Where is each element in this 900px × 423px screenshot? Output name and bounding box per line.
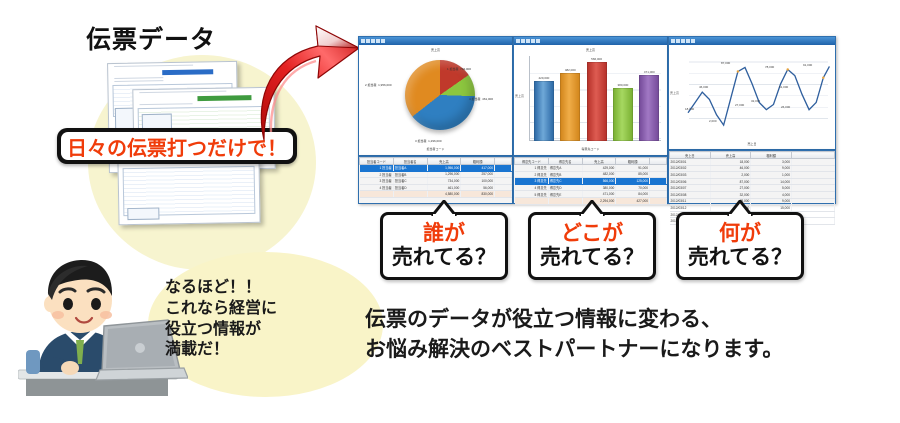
cell: 2012/03/01 xyxy=(670,159,711,166)
callout-line2: 売れてる？ xyxy=(688,246,792,270)
slip-document-front xyxy=(117,159,260,225)
cell xyxy=(792,159,835,166)
point-label-2: 2,000 xyxy=(709,119,717,123)
th-0[interactable]: 担当者コード xyxy=(360,158,394,165)
table-customer: 得意先コード 得意先名 売上高 粗利額 1 得意先 得意先A 429,000 9… xyxy=(514,157,667,205)
cell: 380,000 xyxy=(582,184,616,191)
point-label-1: 46,000 xyxy=(699,85,708,89)
bar-value-0: 429,000 xyxy=(538,76,549,80)
callout-line2: 売れてる？ xyxy=(540,246,644,270)
th-1[interactable]: 得意先名 xyxy=(548,158,582,165)
cell: 担当者A xyxy=(393,165,427,172)
bottom-copy: 伝票のデータが役立つ情報に変わる、 お悩み解決のベストパートナーになります。 xyxy=(365,305,885,365)
cell xyxy=(495,191,512,198)
cell: 2 得意先 xyxy=(515,171,549,178)
table-row[interactable]: 1 得意先 得意先A 429,000 91,000 xyxy=(515,165,667,172)
th-2[interactable]: 売上高 xyxy=(427,158,461,165)
cell xyxy=(650,197,667,204)
cell xyxy=(515,197,549,204)
callout-line1: どこが xyxy=(561,222,623,246)
table-row[interactable]: 2012/03/0118,0003,000 xyxy=(670,159,835,166)
cell: 417,000 xyxy=(461,165,495,172)
cell: 27,000 xyxy=(710,185,751,192)
table-row[interactable]: 2012/03/032,0001,000 xyxy=(670,172,835,179)
cell xyxy=(792,178,835,185)
table-row[interactable]: 3 担当者 担当者C 734,000 100,000 xyxy=(360,178,512,185)
table-row[interactable]: 3 得意先 得意先C 566,000 125,000 xyxy=(515,178,667,185)
cell: 2012/03/02 xyxy=(670,165,711,172)
callout-tail xyxy=(579,200,605,216)
cell xyxy=(792,172,835,179)
dashboard-panel-daily[interactable]: 売上高 18,000 46,000 2,000 87,000 27,000 32… xyxy=(668,36,836,150)
cell xyxy=(495,184,512,191)
cell: 482,000 xyxy=(582,171,616,178)
cell: 2012/03/03 xyxy=(670,172,711,179)
cell: 566,000 xyxy=(582,178,616,185)
cell xyxy=(650,171,667,178)
table-row[interactable]: 4 得意先 得意先D 380,000 70,000 xyxy=(515,184,667,191)
chart-title-2: 売上高 xyxy=(514,48,667,52)
cell: 2012/03/12 xyxy=(670,205,711,212)
cell: 100,000 xyxy=(461,178,495,185)
cell: 85,000 xyxy=(616,171,650,178)
cell: 830,000 xyxy=(461,191,495,198)
cell: 91,000 xyxy=(616,165,650,172)
table-row[interactable]: 4 担当者 担当者D 461,000 56,000 xyxy=(360,184,512,191)
cell: 32,000 xyxy=(710,191,751,198)
bar-value-2: 566,000 xyxy=(591,57,602,61)
point-label-5: 32,000 xyxy=(751,99,760,103)
dashboard-panel-salesperson[interactable]: 売上高 1 担当者, 734,000 2 担当者, 1,956,000 3 担当… xyxy=(358,36,513,156)
pie-label-3: 3 担当者, 1,296,000 xyxy=(415,139,442,143)
cell: 471,000 xyxy=(582,191,616,198)
callout-tail xyxy=(727,200,753,216)
cell: 46,000 xyxy=(710,165,751,172)
cell: 1,296,000 xyxy=(427,171,461,178)
cell: 14,000 xyxy=(751,178,792,185)
cell: 427,000 xyxy=(616,197,650,204)
cell xyxy=(792,185,835,192)
tagline-banner-text: 日々の伝票打つだけで！ xyxy=(67,132,287,161)
point-label-9: 91,000 xyxy=(803,63,812,67)
bar-value-3: 380,000 xyxy=(618,83,629,87)
cell xyxy=(495,178,512,185)
cell: 4 得意先 xyxy=(515,184,549,191)
businessman-illustration xyxy=(18,252,188,400)
cell: 3,000 xyxy=(751,159,792,166)
pie-label-4: 4 担当者, 461,000 xyxy=(469,97,493,101)
bar-3: 380,000 xyxy=(613,88,633,141)
chart-xlabel-3: 売上日 xyxy=(669,142,835,146)
table-header-row: 売上日 売上高 粗利額 xyxy=(670,152,835,159)
cell xyxy=(393,191,427,198)
panel-titlebar[interactable] xyxy=(669,37,835,45)
th-3[interactable]: 粗利額 xyxy=(616,158,650,165)
cell: 2012/03/11 xyxy=(670,198,711,205)
point-label-6: 78,000 xyxy=(765,65,774,69)
table-header-row: 担当者コード 担当者名 売上高 粗利額 xyxy=(360,158,512,165)
table-row[interactable]: 2012/03/0727,0005,000 xyxy=(670,185,835,192)
dashboard-panel-customer[interactable]: 売上高 売上高 429,000 482,000 566,000 380,000 … xyxy=(513,36,668,156)
table-salesperson: 担当者コード 担当者名 売上高 粗利額 1 担当者 担当者A 1,956,000… xyxy=(359,157,512,198)
panel-titlebar[interactable] xyxy=(359,37,512,45)
cell: 担当者B xyxy=(393,171,427,178)
cell: 461,000 xyxy=(427,184,461,191)
dashboard-table-customer[interactable]: 得意先コード 得意先名 売上高 粗利額 1 得意先 得意先A 429,000 9… xyxy=(513,156,668,204)
cell: 2 担当者 xyxy=(360,171,394,178)
th-0[interactable]: 得意先コード xyxy=(515,158,549,165)
bar-value-1: 482,000 xyxy=(565,68,576,72)
cell: 4,580,000 xyxy=(427,191,461,198)
cell: 70,000 xyxy=(616,184,650,191)
point-label-0: 18,000 xyxy=(685,107,694,111)
cell: 1,956,000 xyxy=(427,165,461,172)
th-2[interactable]: 粗利額 xyxy=(751,152,792,159)
man-speech-line-4: 満載だ！ xyxy=(165,340,325,361)
bar-value-4: 471,000 xyxy=(644,70,655,74)
cell: 1 担当者 xyxy=(360,165,394,172)
cell: 87,000 xyxy=(710,178,751,185)
th-2[interactable]: 売上高 xyxy=(582,158,616,165)
chart-xlabel-2: 得意先コード xyxy=(514,147,667,151)
cell: 429,000 xyxy=(582,165,616,172)
callout-what: 何が 売れてる？ xyxy=(676,212,804,280)
table-row[interactable]: 2012/03/0687,00014,000 xyxy=(670,178,835,185)
cell: 9,000 xyxy=(751,198,792,205)
table-row[interactable]: 2012/03/0246,0009,000 xyxy=(670,165,835,172)
cell xyxy=(650,191,667,198)
red-arrow-icon xyxy=(258,22,373,142)
point-label-7: 51,000 xyxy=(779,85,788,89)
bottom-copy-line-1: 伝票のデータが役立つ情報に変わる、 xyxy=(365,305,885,335)
bottom-copy-line-2: お悩み解決のベストパートナーになります。 xyxy=(365,335,885,365)
cell xyxy=(548,197,582,204)
cell: 担当者D xyxy=(393,184,427,191)
cell xyxy=(792,198,835,205)
cell xyxy=(495,165,512,172)
th-1[interactable]: 売上高 xyxy=(710,152,751,159)
table-row[interactable]: 2 担当者 担当者B 1,296,000 257,000 xyxy=(360,171,512,178)
page-title: 伝票データ xyxy=(86,20,286,56)
cell: 得意先A xyxy=(548,165,582,172)
cell: 56,000 xyxy=(461,184,495,191)
cell: 2012/03/08 xyxy=(670,191,711,198)
man-speech-line-3: 役立つ情報が xyxy=(165,320,325,341)
table-row[interactable]: 2012/03/0832,0004,000 xyxy=(670,191,835,198)
table-row[interactable]: 1 担当者 担当者A 1,956,000 417,000 xyxy=(360,165,512,172)
cell: 15,000 xyxy=(751,205,792,212)
th-0[interactable]: 売上日 xyxy=(670,152,711,159)
table-row[interactable]: 2 得意先 得意先B 482,000 85,000 xyxy=(515,171,667,178)
cell: 2012/03/06 xyxy=(670,178,711,185)
bar-4: 471,000 xyxy=(639,75,659,141)
bar-chart: 429,000 482,000 566,000 380,000 471,000 xyxy=(534,58,659,141)
point-label-4: 27,000 xyxy=(735,103,744,107)
cell xyxy=(650,178,667,185)
cell: 5 得意先 xyxy=(515,191,549,198)
callout-line2: 売れてる？ xyxy=(392,246,496,270)
bar-1: 482,000 xyxy=(560,73,580,140)
bar-2: 566,000 xyxy=(587,62,607,141)
th-spacer xyxy=(495,158,512,165)
callout-who: 誰が 売れてる？ xyxy=(380,212,508,280)
pie-label-2: 2 担当者, 1,956,000 xyxy=(365,83,392,87)
chart-ylabel-2: 売上高 xyxy=(515,94,524,98)
point-label-8: 26,000 xyxy=(781,105,790,109)
th-3[interactable]: 粗利額 xyxy=(461,158,495,165)
cell: 3 担当者 xyxy=(360,178,394,185)
cell: 担当者C xyxy=(393,178,427,185)
th-1[interactable]: 担当者名 xyxy=(393,158,427,165)
man-speech-text: なるほど！！ これなら経営に 役立つ情報が 満載だ！ xyxy=(165,278,325,361)
th-spacer xyxy=(792,152,835,159)
cell: 得意先B xyxy=(548,171,582,178)
man-speech-line-2: これなら経営に xyxy=(165,299,325,320)
cell xyxy=(650,184,667,191)
cell: 2,000 xyxy=(710,172,751,179)
cell: 125,000 xyxy=(616,178,650,185)
cell: 734,000 xyxy=(427,178,461,185)
cell: 4,000 xyxy=(751,191,792,198)
bar-0: 429,000 xyxy=(534,81,554,141)
table-total-row: 4,580,000 830,000 xyxy=(360,191,512,198)
cell xyxy=(792,205,835,212)
chart-ylabel-3: 売上高 xyxy=(670,91,679,95)
cell: 3 得意先 xyxy=(515,178,549,185)
cell: 5,000 xyxy=(751,185,792,192)
cell xyxy=(792,165,835,172)
th-spacer xyxy=(650,158,667,165)
cell: 得意先D xyxy=(548,184,582,191)
man-speech-line-1: なるほど！！ xyxy=(165,278,325,299)
chart-xlabel-1: 担当者コード xyxy=(359,147,512,151)
chart-title-1: 売上高 xyxy=(359,48,512,52)
cell: 1 得意先 xyxy=(515,165,549,172)
cell: 1,000 xyxy=(751,172,792,179)
panel-titlebar[interactable] xyxy=(514,37,667,45)
cell: 84,000 xyxy=(616,191,650,198)
cell: 18,000 xyxy=(710,159,751,166)
cell: 4 担当者 xyxy=(360,184,394,191)
cell xyxy=(360,191,394,198)
pie-label-1: 1 担当者, 734,000 xyxy=(447,67,471,71)
callout-tail xyxy=(431,200,457,216)
cell xyxy=(792,191,835,198)
cell: 得意先C xyxy=(548,178,582,185)
cell: 9,000 xyxy=(751,165,792,172)
chart-yaxis xyxy=(529,56,530,141)
cell: 2012/03/07 xyxy=(670,185,711,192)
table-header-row: 得意先コード 得意先名 売上高 粗利額 xyxy=(515,158,667,165)
callout-line1: 誰が xyxy=(423,222,465,246)
cell xyxy=(495,171,512,178)
dashboard-table-salesperson[interactable]: 担当者コード 担当者名 売上高 粗利額 1 担当者 担当者A 1,956,000… xyxy=(358,156,513,204)
callout-where: どこが 売れてる？ xyxy=(528,212,656,280)
point-label-3: 87,000 xyxy=(721,61,730,65)
cell xyxy=(650,165,667,172)
callout-line1: 何が xyxy=(719,222,761,246)
cell: 得意先E xyxy=(548,191,582,198)
cell: 257,000 xyxy=(461,171,495,178)
table-row[interactable]: 5 得意先 得意先E 471,000 84,000 xyxy=(515,191,667,198)
dashboard-table-daily[interactable]: 売上日 売上高 粗利額 2012/03/0118,0003,0002012/03… xyxy=(668,150,836,204)
